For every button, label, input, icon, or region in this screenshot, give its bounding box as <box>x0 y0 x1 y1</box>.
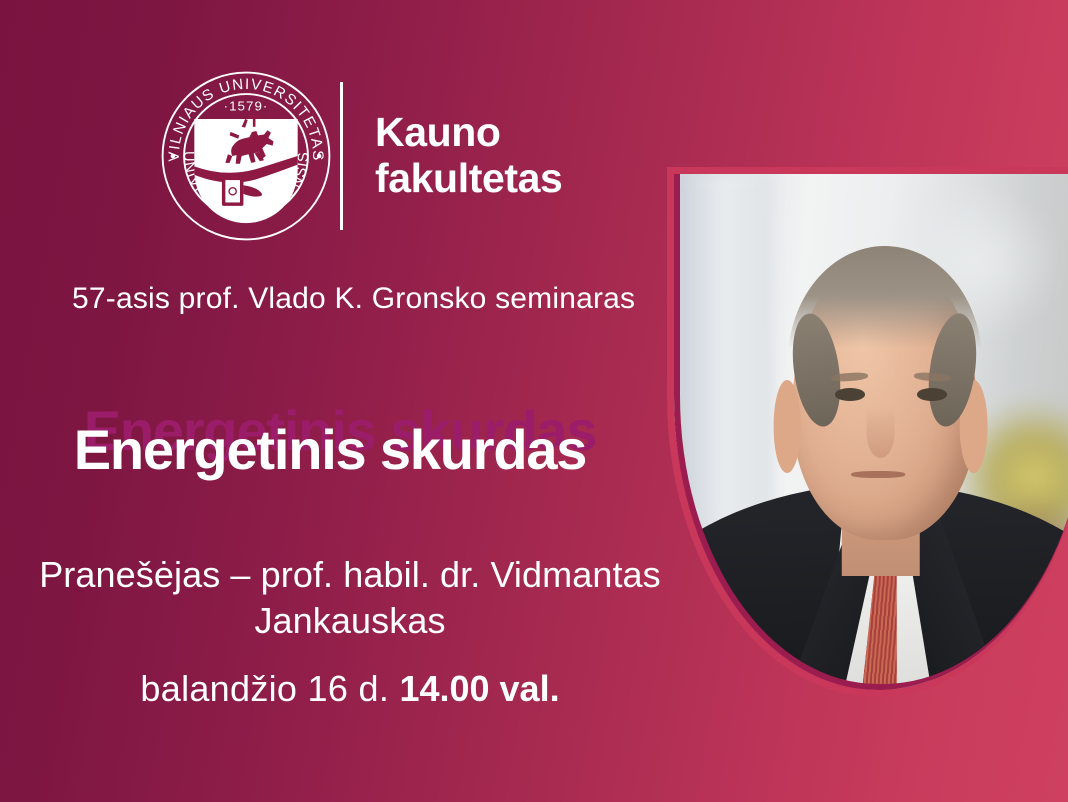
faculty-name-line2: fakultetas <box>375 156 562 202</box>
svg-text:·1579·: ·1579· <box>224 98 269 113</box>
event-title-text: Energetinis skurdas <box>0 417 660 482</box>
date-text: balandžio 16 d. <box>140 668 389 709</box>
portrait-nose <box>866 406 895 458</box>
seminar-poster: VILNIAUS UNIVERSITETAS UNIVERSITAS VILNE… <box>0 0 1068 802</box>
portrait-mouth <box>852 471 906 478</box>
speaker-line: Pranešėjas – prof. habil. dr. Vidmantas … <box>0 552 700 644</box>
event-title: Energetinis skurdas Energetinis skurdas <box>0 398 660 490</box>
seminar-label: 57-asis prof. Vlado K. Gronsko seminaras <box>72 282 635 316</box>
speaker-portrait-image <box>674 174 1068 690</box>
datetime-line: balandžio 16 d. 14.00 val. <box>0 668 700 710</box>
vilnius-university-seal-icon: VILNIAUS UNIVERSITETAS UNIVERSITAS VILNE… <box>160 70 332 242</box>
faculty-name: Kauno fakultetas <box>375 110 562 202</box>
portrait-eye-right <box>917 388 947 400</box>
speaker-photo-frame <box>667 167 1068 697</box>
time-text: 14.00 val. <box>399 668 559 709</box>
faculty-name-line1: Kauno <box>375 110 562 156</box>
logo-divider <box>340 82 343 230</box>
portrait-eye-left <box>835 388 865 400</box>
logo-lockup: VILNIAUS UNIVERSITETAS UNIVERSITAS VILNE… <box>160 68 562 243</box>
